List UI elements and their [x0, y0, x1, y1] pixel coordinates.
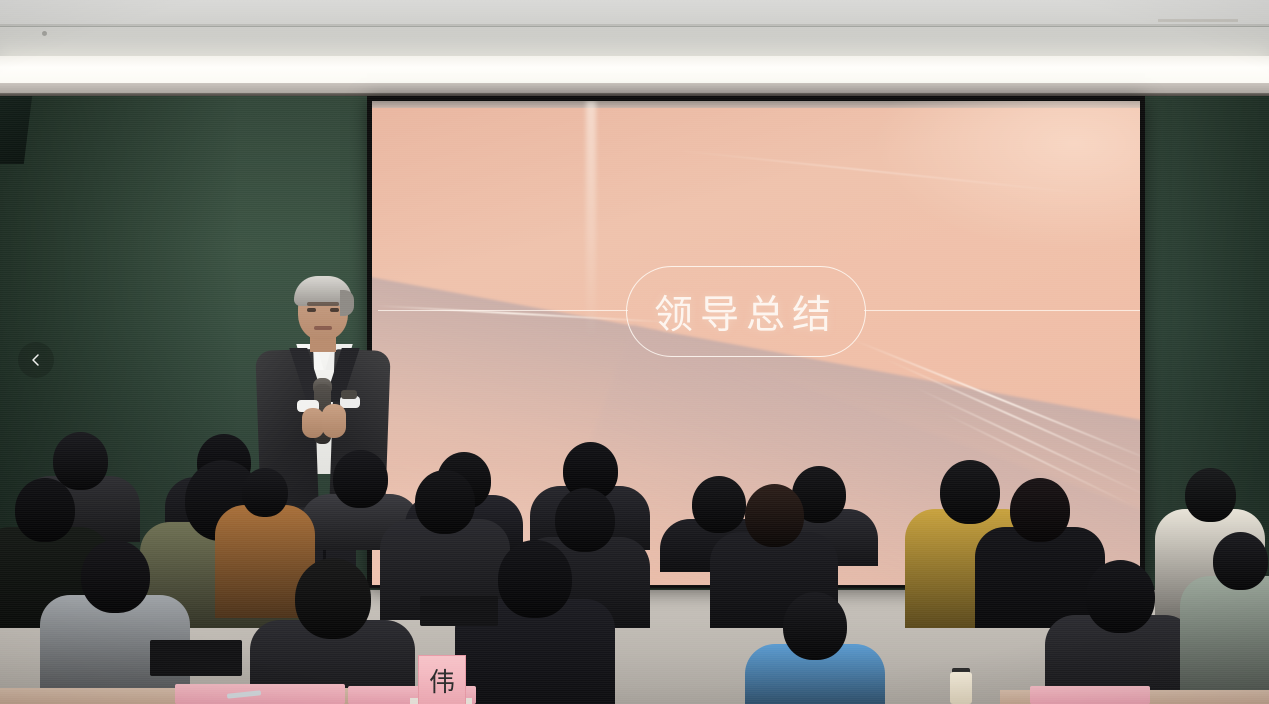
previous-image-button[interactable] [18, 342, 54, 378]
speaker-watch [341, 390, 357, 399]
name-placard: 伟 [418, 655, 466, 704]
slide-vertical-streak [586, 101, 596, 341]
audience-person [1045, 560, 1195, 704]
chevron-left-icon [29, 353, 43, 367]
ceiling-fixture-dot [42, 31, 47, 36]
slide-title-pill: 领导总结 [626, 266, 866, 357]
audience-person [1180, 532, 1269, 704]
slide-title: 领导总结 [654, 284, 838, 340]
audience-person-shoulders [1180, 576, 1269, 704]
slide-rule-right [864, 310, 1140, 311]
audience-person [745, 592, 885, 704]
audience-person [250, 558, 415, 704]
speaker-hand-right [322, 404, 346, 438]
speaker-hair-side [340, 290, 354, 316]
audience-person-head [81, 540, 150, 613]
audience-person-head [783, 592, 847, 660]
audience-person-head [242, 468, 288, 517]
audience-person-head [295, 558, 371, 639]
water-bottle [950, 672, 972, 704]
speaker-hand-left [302, 408, 324, 438]
audience-person-head [745, 484, 804, 547]
laptop [420, 596, 498, 626]
speaker-eyes [307, 308, 339, 312]
ceiling [0, 0, 1269, 98]
ceiling-panel-upper [0, 0, 1269, 26]
ceiling-light-strip [0, 56, 1269, 84]
audience-person-head [1213, 532, 1268, 590]
audience-person-head [15, 478, 75, 542]
audience-person-head [1010, 478, 1070, 542]
ceiling-panel-lower [0, 27, 1269, 59]
speaker-mouth [314, 326, 332, 330]
notepad [1030, 686, 1150, 704]
photo-viewer: 领导总结 伟 [0, 0, 1269, 704]
audience-person-head [415, 470, 475, 534]
ceiling-vent-secondary [1158, 19, 1238, 22]
laptop [150, 640, 242, 676]
slide-rule-left [378, 310, 628, 311]
speaker-brow [307, 302, 339, 306]
audience-person-head [1086, 560, 1155, 633]
audience-person [40, 540, 190, 704]
audience-person-head [498, 540, 572, 618]
name-placard-text: 伟 [429, 662, 455, 699]
audience-person-head [1185, 468, 1236, 522]
